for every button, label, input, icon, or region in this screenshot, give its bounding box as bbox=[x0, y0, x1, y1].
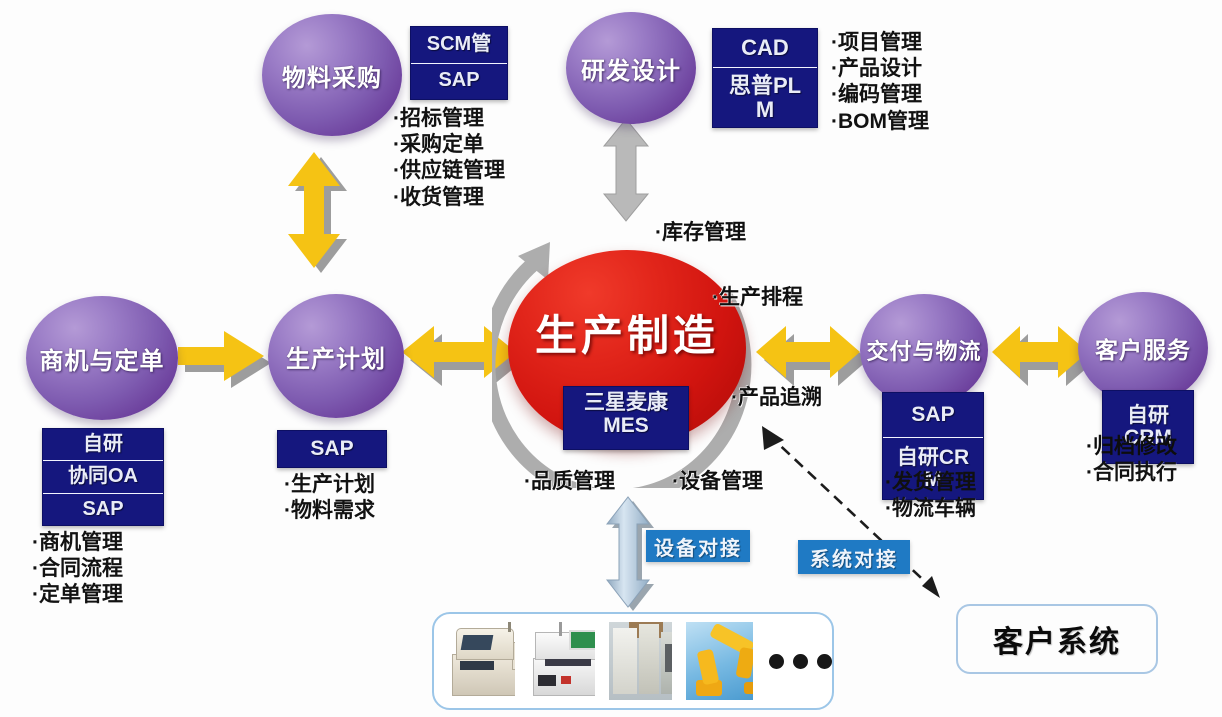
bullet-item: ·招标管理 bbox=[393, 106, 505, 131]
node-rnd-design[interactable]: 研发设计 bbox=[566, 12, 696, 124]
capability-inventory-management: ·库存管理 bbox=[655, 216, 746, 246]
tag-system-interface[interactable]: 系统对接 bbox=[798, 540, 910, 574]
arrow-purchase-to-plan bbox=[282, 148, 362, 274]
systembox-mes[interactable]: 三星麦康 MES bbox=[563, 386, 689, 450]
bullets-opportunity-order: ·商机管理 ·合同流程 ·定单管理 bbox=[32, 530, 123, 609]
machine-robot-arm-icon bbox=[686, 622, 753, 700]
machine-production-line-icon bbox=[609, 622, 672, 700]
node-production-plan-label: 生产计划 bbox=[286, 339, 386, 374]
node-opportunity-order[interactable]: 商机与定单 bbox=[26, 296, 178, 420]
bullets-customer-service: ·归档修改 ·合同执行 bbox=[1086, 434, 1177, 486]
bullet-item: ·收货管理 bbox=[393, 185, 505, 210]
bullet-item: ·合同执行 bbox=[1086, 460, 1177, 485]
more-machines-indicator bbox=[769, 654, 832, 669]
box-customer-system[interactable]: 客户系统 bbox=[956, 604, 1158, 674]
node-production-plan[interactable]: 生产计划 bbox=[268, 294, 404, 418]
core-label: 生产制造 bbox=[535, 302, 719, 363]
bullet-item: ·供应链管理 bbox=[393, 158, 505, 183]
systembox-material-purchase[interactable]: SCM管 SAP bbox=[410, 26, 508, 100]
bullet-item: ·定单管理 bbox=[32, 582, 123, 607]
systembox-opportunity-order[interactable]: 自研 协同OA SAP bbox=[42, 428, 164, 526]
bullet-item: ·编码管理 bbox=[831, 82, 929, 107]
bullet-item: ·归档修改 bbox=[1086, 434, 1177, 459]
system-label: SAP bbox=[411, 64, 507, 100]
bullet-item: ·BOM管理 bbox=[831, 109, 929, 134]
node-rnd-design-label: 研发设计 bbox=[581, 51, 681, 86]
systembox-production-plan[interactable]: SAP bbox=[277, 430, 387, 468]
bullet-item: ·合同流程 bbox=[32, 556, 123, 581]
system-label: CAD bbox=[713, 29, 817, 68]
system-label: MES bbox=[564, 415, 688, 441]
node-delivery-logistics[interactable]: 交付与物流 bbox=[860, 294, 988, 406]
capability-production-scheduling: ·生产排程 bbox=[712, 281, 803, 311]
bullet-item: ·生产计划 bbox=[284, 472, 375, 497]
bullet-item: ·商机管理 bbox=[32, 530, 123, 555]
systembox-rnd-design[interactable]: CAD 思普PL M bbox=[712, 28, 818, 128]
diagram-canvas: 物料采购 SCM管 SAP ·招标管理 ·采购定单 ·供应链管理 ·收货管理 研… bbox=[0, 0, 1222, 717]
capability-product-traceability: ·产品追溯 bbox=[731, 381, 822, 411]
system-label: 自研 bbox=[43, 429, 163, 461]
node-opportunity-order-label: 商机与定单 bbox=[40, 341, 165, 376]
machine-smt-printer-icon bbox=[529, 622, 595, 700]
bullet-item: ·产品设计 bbox=[831, 56, 929, 81]
system-label: 三星麦康 bbox=[564, 387, 688, 415]
node-customer-service-label: 客户服务 bbox=[1095, 331, 1191, 365]
node-customer-service[interactable]: 客户服务 bbox=[1078, 292, 1208, 404]
bullets-production-plan: ·生产计划 ·物料需求 bbox=[284, 472, 375, 524]
node-delivery-logistics-label: 交付与物流 bbox=[866, 334, 981, 366]
node-material-purchase[interactable]: 物料采购 bbox=[262, 14, 402, 136]
capability-quality-management: ·品质管理 bbox=[524, 465, 615, 495]
system-label: SAP bbox=[278, 431, 386, 467]
bullets-delivery-logistics: ·发货管理 ·物流车辆 bbox=[885, 470, 976, 522]
system-label: SAP bbox=[43, 494, 163, 525]
bullet-item: ·物料需求 bbox=[284, 498, 375, 523]
node-material-purchase-label: 物料采购 bbox=[282, 58, 382, 93]
machine-inspection-icon bbox=[448, 622, 515, 700]
system-label: 思普PL M bbox=[713, 68, 817, 127]
bullet-item: ·物流车辆 bbox=[885, 496, 976, 521]
bullet-item: ·采购定单 bbox=[393, 132, 505, 157]
box-customer-system-label: 客户系统 bbox=[993, 617, 1121, 661]
bullet-item: ·项目管理 bbox=[831, 30, 929, 55]
capability-equipment-management: ·设备管理 bbox=[672, 465, 763, 495]
tag-system-interface-label: 系统对接 bbox=[810, 543, 898, 572]
bullet-item: ·发货管理 bbox=[885, 470, 976, 495]
bullets-material-purchase: ·招标管理 ·采购定单 ·供应链管理 ·收货管理 bbox=[393, 106, 505, 211]
tag-equipment-interface[interactable]: 设备对接 bbox=[646, 530, 750, 562]
equipment-strip[interactable] bbox=[432, 612, 834, 710]
system-label: SCM管 bbox=[411, 27, 507, 64]
arrow-opportunity-to-plan bbox=[172, 325, 272, 387]
bullets-rnd-design: ·项目管理 ·产品设计 ·编码管理 ·BOM管理 bbox=[831, 30, 929, 135]
tag-equipment-interface-label: 设备对接 bbox=[654, 532, 742, 561]
system-label: 协同OA bbox=[43, 461, 163, 493]
